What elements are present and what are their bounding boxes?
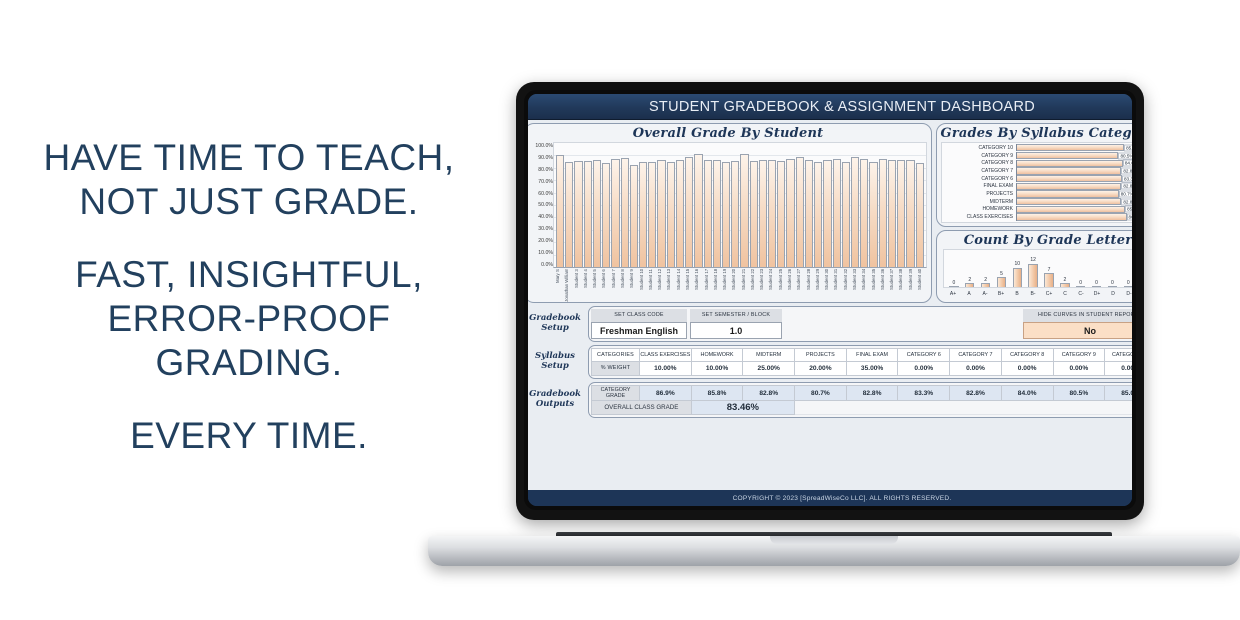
bar-value-label: 82.8% bbox=[1121, 167, 1132, 174]
headline-line: GRADING. bbox=[0, 341, 498, 385]
chart-bar bbox=[796, 157, 804, 267]
syllabus-setup-label-line2: Setup bbox=[541, 362, 569, 372]
gradebook-outputs-body: CATEGORY GRADE86.9%85.8%82.8%80.7%82.8%8… bbox=[588, 382, 1132, 418]
chart-bar bbox=[833, 159, 841, 267]
chart-bar bbox=[842, 162, 850, 267]
x-tick-label: B+ bbox=[994, 291, 1008, 300]
gradebook-outputs-table: CATEGORY GRADE86.9%85.8%82.8%80.7%82.8%8… bbox=[591, 385, 1132, 415]
x-tick-label: A- bbox=[978, 291, 992, 300]
y-tick-label: 70.0% bbox=[528, 179, 553, 185]
letter-count-column: 7 bbox=[1042, 252, 1056, 287]
category-grade-cell: 82.8% bbox=[846, 386, 898, 401]
x-tick-label: A bbox=[962, 291, 976, 300]
panel-title-overall: Overall Grade By Student bbox=[528, 124, 931, 142]
syllabus-bar-label: CATEGORY 9 bbox=[942, 153, 1016, 159]
chart-bar bbox=[916, 163, 924, 267]
weight-cell[interactable]: 10.00% bbox=[640, 361, 692, 375]
syllabus-bar-label: FINAL EXAM bbox=[942, 183, 1016, 189]
syllabus-bar-row: CATEGORY 884.0% bbox=[942, 160, 1132, 167]
letter-count-column: 2 bbox=[963, 252, 977, 287]
chart-bar bbox=[786, 159, 794, 267]
marketing-headline: HAVE TIME TO TEACH,NOT JUST GRADE.FAST, … bbox=[0, 136, 498, 458]
bar-value-label: 2 bbox=[1063, 278, 1066, 283]
chart-bar bbox=[621, 158, 629, 267]
table-row: CATEGORY GRADE86.9%85.8%82.8%80.7%82.8%8… bbox=[592, 386, 1133, 401]
bar-value-label: 80.7% bbox=[1119, 190, 1132, 197]
bar-value-label: 12 bbox=[1030, 258, 1036, 263]
headline-line: FAST, INSIGHTFUL, bbox=[0, 253, 498, 297]
headline-paragraph: HAVE TIME TO TEACH,NOT JUST GRADE. bbox=[0, 136, 498, 223]
weight-cell[interactable]: 0.00% bbox=[1053, 361, 1105, 375]
y-tick-label: 20.0% bbox=[528, 238, 553, 244]
x-tick-label: Student 21 bbox=[741, 269, 749, 302]
y-tick-label: 100.0% bbox=[528, 143, 553, 149]
letter-x-axis: A+AA-B+BB-C+CC-D+DD-F bbox=[943, 290, 1132, 300]
x-tick-label: Student 7 bbox=[611, 269, 619, 302]
syllabus-bar-row: CLASS EXERCISES86.9% bbox=[942, 213, 1132, 220]
x-tick-label: Student 15 bbox=[685, 269, 693, 302]
laptop-screen: STUDENT GRADEBOOK & ASSIGNMENT DASHBOARD… bbox=[528, 94, 1132, 506]
chart-bar bbox=[777, 161, 785, 267]
gradebook-setup-label-line2: Setup bbox=[541, 324, 569, 334]
x-tick-label: C- bbox=[1074, 291, 1088, 300]
x-tick-label: Student 36 bbox=[880, 269, 888, 302]
y-tick-label: 30.0% bbox=[528, 226, 553, 232]
x-tick-label: Student 18 bbox=[713, 269, 721, 302]
bar-value-label: 80.5% bbox=[1118, 152, 1132, 159]
syllabus-bar-track: 85.8% bbox=[1016, 206, 1132, 213]
x-tick-label: D+ bbox=[1090, 291, 1104, 300]
x-tick-label: Student 17 bbox=[704, 269, 712, 302]
chart-bar bbox=[657, 160, 665, 267]
category-grade-cell: 83.3% bbox=[898, 386, 950, 401]
column-header: PROJECTS bbox=[795, 349, 847, 362]
bar-value-label: 10 bbox=[1015, 262, 1021, 267]
chart-bar bbox=[1092, 286, 1101, 287]
syllabus-bar-track: 84.0% bbox=[1016, 160, 1132, 167]
column-header: CATEGORY 9 bbox=[1053, 349, 1105, 362]
y-tick-label: 40.0% bbox=[528, 214, 553, 220]
x-tick-label: Student 23 bbox=[759, 269, 767, 302]
syllabus-bar-chart: CATEGORY 1085.0%CATEGORY 980.5%CATEGORY … bbox=[941, 142, 1132, 223]
x-tick-label: C bbox=[1058, 291, 1072, 300]
chart-bar bbox=[648, 162, 656, 267]
headline-paragraph: EVERY TIME. bbox=[0, 414, 498, 458]
overall-plot-wrap: Mary SJonathan WilliamsStudent 3Student … bbox=[553, 142, 927, 302]
bar-value-label: 2 bbox=[984, 278, 987, 283]
chart-bar bbox=[888, 160, 896, 267]
x-tick-label: Student 27 bbox=[796, 269, 804, 302]
table-row: % WEIGHT10.00%10.00%25.00%20.00%35.00%0.… bbox=[592, 361, 1133, 375]
chart-bar: 82.8% bbox=[1017, 198, 1121, 205]
x-tick-label: Student 12 bbox=[657, 269, 665, 302]
syllabus-setup-label: Syllabus Setup bbox=[528, 345, 586, 379]
letter-count-column: 10 bbox=[1010, 252, 1024, 287]
y-tick-label: 10.0% bbox=[528, 250, 553, 256]
x-tick-label: D bbox=[1106, 291, 1120, 300]
chart-bar bbox=[639, 162, 647, 267]
table-row: OVERALL CLASS GRADE83.46% bbox=[592, 401, 1133, 415]
headline-line: HAVE TIME TO TEACH, bbox=[0, 136, 498, 180]
syllabus-bar-track: 82.8% bbox=[1016, 167, 1132, 174]
weight-cell[interactable]: 10.00% bbox=[691, 361, 743, 375]
laptop-bezel: STUDENT GRADEBOOK & ASSIGNMENT DASHBOARD… bbox=[524, 90, 1136, 510]
x-tick-label: Student 34 bbox=[861, 269, 869, 302]
x-tick-label: Student 35 bbox=[871, 269, 879, 302]
panel-title-syllabus: Grades By Syllabus Category bbox=[937, 124, 1132, 142]
chart-bar: 80.7% bbox=[1017, 190, 1119, 197]
setup-field: HIDE CURVES IN STUDENT REPORTSNo bbox=[1023, 309, 1132, 339]
row-header: CATEGORY GRADE bbox=[592, 386, 640, 401]
laptop-base bbox=[428, 536, 1240, 566]
chart-bar bbox=[879, 159, 887, 267]
syllabus-bar-label: CATEGORY 10 bbox=[942, 145, 1016, 151]
column-header: CATEGORY 6 bbox=[898, 349, 950, 362]
letter-count-column: 0 bbox=[947, 252, 961, 287]
weight-cell[interactable]: 0.00% bbox=[898, 361, 950, 375]
chart-bar bbox=[1108, 286, 1117, 287]
chart-bar bbox=[869, 162, 877, 267]
weight-cell[interactable]: 35.00% bbox=[846, 361, 898, 375]
category-grade-cell: 85.8% bbox=[691, 386, 743, 401]
x-tick-label: Student 5 bbox=[592, 269, 600, 302]
x-tick-label: Student 6 bbox=[601, 269, 609, 302]
gradebook-outputs-label-line2: Outputs bbox=[536, 400, 574, 410]
column-header: CATEGORY 8 bbox=[1001, 349, 1053, 362]
syllabus-bar-track: 80.7% bbox=[1016, 190, 1132, 197]
x-tick-label: Student 25 bbox=[778, 269, 786, 302]
overall-chart-area: 100.0%90.0%80.0%70.0%60.0%50.0%40.0%30.0… bbox=[528, 142, 931, 302]
syllabus-bar-row: MIDTERM82.8% bbox=[942, 198, 1132, 205]
syllabus-setup-section: Syllabus Setup CATEGORIESCLASS EXERCISES… bbox=[528, 345, 1132, 379]
chart-bar bbox=[965, 283, 974, 287]
gradebook-setup-label: Gradebook Setup bbox=[528, 306, 586, 342]
laptop-base-lip bbox=[770, 536, 898, 544]
chart-bar bbox=[602, 163, 610, 267]
chart-bar bbox=[556, 155, 564, 267]
category-grade-cell: 80.5% bbox=[1053, 386, 1105, 401]
panel-count-by-grade-letter: Count By Grade Letter 022510127200000 A+… bbox=[936, 230, 1132, 303]
overall-x-axis: Mary SJonathan WilliamsStudent 3Student … bbox=[553, 268, 927, 302]
x-tick-label: C+ bbox=[1042, 291, 1056, 300]
charts-row: Overall Grade By Student 100.0%90.0%80.0… bbox=[528, 123, 1132, 303]
overall-class-grade-value: 83.46% bbox=[691, 401, 794, 415]
chart-bar bbox=[1013, 268, 1022, 288]
weight-cell[interactable]: 20.00% bbox=[795, 361, 847, 375]
laptop-mockup: STUDENT GRADEBOOK & ASSIGNMENT DASHBOARD… bbox=[428, 82, 1240, 572]
x-tick-label: Student 37 bbox=[889, 269, 897, 302]
overall-class-grade-label: OVERALL CLASS GRADE bbox=[592, 401, 692, 415]
chart-bar bbox=[685, 157, 693, 267]
column-header: CATEGORY 10 bbox=[1105, 349, 1132, 362]
row-header: % WEIGHT bbox=[592, 361, 640, 375]
chart-bar bbox=[713, 160, 721, 267]
weight-cell[interactable]: 0.00% bbox=[1105, 361, 1132, 375]
x-tick-label: Student 30 bbox=[824, 269, 832, 302]
weight-cell[interactable]: 25.00% bbox=[743, 361, 795, 375]
chart-bar bbox=[574, 161, 582, 267]
column-header: HOMEWORK bbox=[691, 349, 743, 362]
chart-bar bbox=[593, 160, 601, 267]
chart-bar: 83.3% bbox=[1017, 175, 1122, 182]
chart-bar bbox=[814, 162, 822, 267]
setup-field-header: HIDE CURVES IN STUDENT REPORTS bbox=[1023, 309, 1132, 322]
chart-bar bbox=[565, 162, 573, 267]
headline-line: NOT JUST GRADE. bbox=[0, 180, 498, 224]
headline-line: EVERY TIME. bbox=[0, 414, 498, 458]
overall-y-axis: 100.0%90.0%80.0%70.0%60.0%50.0%40.0%30.0… bbox=[528, 142, 553, 302]
empty-cell bbox=[795, 401, 1132, 415]
category-grade-cell: 84.0% bbox=[1001, 386, 1053, 401]
x-tick-label: Student 4 bbox=[583, 269, 591, 302]
chart-bar: 82.8% bbox=[1017, 167, 1121, 174]
y-tick-label: 90.0% bbox=[528, 155, 553, 161]
x-tick-label: Student 40 bbox=[917, 269, 925, 302]
gradebook-setup-grid: SET CLASS CODEFreshman EnglishSET SEMEST… bbox=[591, 309, 1132, 339]
y-tick-label: 0.0% bbox=[528, 262, 553, 268]
setup-field-input[interactable]: No bbox=[1023, 322, 1132, 339]
x-tick-label: Student 11 bbox=[648, 269, 656, 302]
letter-count-column: 0 bbox=[1121, 252, 1132, 287]
syllabus-bar-row: CATEGORY 980.5% bbox=[942, 152, 1132, 159]
weight-cell[interactable]: 0.00% bbox=[950, 361, 1002, 375]
row-header: CATEGORIES bbox=[592, 349, 640, 362]
chart-bar: 85.8% bbox=[1017, 206, 1125, 213]
table-row: CATEGORIESCLASS EXERCISESHOMEWORKMIDTERM… bbox=[592, 349, 1133, 362]
x-tick-label: Student 3 bbox=[574, 269, 582, 302]
column-header: CLASS EXERCISES bbox=[640, 349, 692, 362]
category-grade-cell: 85.0% bbox=[1105, 386, 1132, 401]
syllabus-bar-track: 82.8% bbox=[1016, 183, 1132, 190]
y-tick-label: 80.0% bbox=[528, 167, 553, 173]
chart-bar bbox=[704, 160, 712, 267]
chart-bar bbox=[676, 160, 684, 267]
letter-count-column: 2 bbox=[1058, 252, 1072, 287]
syllabus-bar-track: 83.3% bbox=[1016, 175, 1132, 182]
x-tick-label: Student 10 bbox=[639, 269, 647, 302]
x-tick-label: Student 33 bbox=[852, 269, 860, 302]
bar-value-label: 7 bbox=[1048, 268, 1051, 273]
x-tick-label: Mary S bbox=[555, 269, 563, 302]
setup-field-input[interactable]: 1.0 bbox=[690, 322, 782, 339]
chart-bar bbox=[759, 160, 767, 267]
chart-bar: 80.5% bbox=[1017, 152, 1118, 159]
chart-bar bbox=[1124, 286, 1133, 287]
right-charts-column: Grades By Syllabus Category CATEGORY 108… bbox=[936, 123, 1132, 303]
setup-field: SET SEMESTER / BLOCK1.0 bbox=[690, 309, 782, 339]
syllabus-bar-row: PROJECTS80.7% bbox=[942, 190, 1132, 197]
category-grade-cell: 80.7% bbox=[795, 386, 847, 401]
chart-bar bbox=[981, 283, 990, 287]
syllabus-bar-track: 82.8% bbox=[1016, 198, 1132, 205]
gradebook-outputs-label: Gradebook Outputs bbox=[528, 382, 586, 418]
letter-count-column: 5 bbox=[995, 252, 1009, 287]
setup-field-header: SET SEMESTER / BLOCK bbox=[690, 309, 782, 322]
syllabus-bar-track: 85.0% bbox=[1016, 144, 1132, 151]
bar-value-label: 82.8% bbox=[1121, 183, 1132, 190]
chart-bar bbox=[1044, 273, 1053, 287]
bar-value-label: 85.8% bbox=[1125, 206, 1132, 213]
x-tick-label: Student 22 bbox=[750, 269, 758, 302]
letter-count-chart: 022510127200000 bbox=[943, 249, 1132, 288]
setup-field-header: SET CLASS CODE bbox=[591, 309, 687, 322]
bar-value-label: 0 bbox=[1111, 281, 1114, 286]
chart-bar bbox=[731, 161, 739, 267]
x-tick-label: B- bbox=[1026, 291, 1040, 300]
x-tick-label: Student 28 bbox=[806, 269, 814, 302]
laptop-lid: STUDENT GRADEBOOK & ASSIGNMENT DASHBOARD… bbox=[516, 82, 1144, 520]
setup-spacer bbox=[785, 309, 1020, 339]
column-header: FINAL EXAM bbox=[846, 349, 898, 362]
bar-value-label: 0 bbox=[1079, 281, 1082, 286]
letter-count-column: 0 bbox=[1105, 252, 1119, 287]
x-tick-label: Jonathan Williams bbox=[564, 269, 572, 302]
x-tick-label: Student 32 bbox=[843, 269, 851, 302]
dashboard-app: STUDENT GRADEBOOK & ASSIGNMENT DASHBOARD… bbox=[528, 94, 1132, 506]
category-grade-cell: 82.8% bbox=[743, 386, 795, 401]
chart-bar bbox=[584, 161, 592, 267]
headline-line: ERROR-PROOF bbox=[0, 297, 498, 341]
chart-bar bbox=[611, 159, 619, 268]
syllabus-setup-body: CATEGORIESCLASS EXERCISESHOMEWORKMIDTERM… bbox=[588, 345, 1132, 379]
x-tick-label: Student 29 bbox=[815, 269, 823, 302]
dashboard-title: STUDENT GRADEBOOK & ASSIGNMENT DASHBOARD bbox=[528, 94, 1132, 120]
chart-bar bbox=[897, 160, 905, 267]
chart-bar bbox=[750, 161, 758, 267]
chart-bar: 86.9% bbox=[1017, 213, 1127, 220]
x-tick-label: Student 16 bbox=[694, 269, 702, 302]
letter-count-column: 0 bbox=[1090, 252, 1104, 287]
x-tick-label: Student 9 bbox=[629, 269, 637, 302]
syllabus-bar-label: CATEGORY 7 bbox=[942, 168, 1016, 174]
x-tick-label: Student 19 bbox=[722, 269, 730, 302]
chart-bar bbox=[1076, 286, 1085, 287]
headline-paragraph: FAST, INSIGHTFUL,ERROR-PROOFGRADING. bbox=[0, 253, 498, 384]
x-tick-label: Student 39 bbox=[908, 269, 916, 302]
syllabus-bar-label: CLASS EXERCISES bbox=[942, 214, 1016, 220]
panel-overall-grade-by-student: Overall Grade By Student 100.0%90.0%80.0… bbox=[528, 123, 932, 303]
chart-bar bbox=[694, 154, 702, 267]
bar-value-label: 0 bbox=[1095, 281, 1098, 286]
dashboard-footer: COPYRIGHT © 2023 [SpreadWiseCo LLC]. ALL… bbox=[528, 490, 1132, 506]
bar-value-label: 84.0% bbox=[1123, 160, 1132, 167]
chart-bar bbox=[823, 160, 831, 267]
syllabus-bar-label: PROJECTS bbox=[942, 191, 1016, 197]
chart-bar bbox=[805, 160, 813, 267]
setup-field-input[interactable]: Freshman English bbox=[591, 322, 687, 339]
syllabus-bar-track: 86.9% bbox=[1016, 213, 1132, 220]
x-tick-label: Student 38 bbox=[898, 269, 906, 302]
syllabus-bar-label: HOMEWORK bbox=[942, 206, 1016, 212]
overall-plot bbox=[553, 142, 927, 268]
bar-value-label: 0 bbox=[953, 281, 956, 286]
x-tick-label: A+ bbox=[946, 291, 960, 300]
y-tick-label: 60.0% bbox=[528, 191, 553, 197]
chart-bar: 85.0% bbox=[1017, 144, 1124, 151]
chart-bar bbox=[949, 286, 958, 287]
bar-value-label: 85.0% bbox=[1124, 144, 1132, 151]
syllabus-bar-row: FINAL EXAM82.8% bbox=[942, 183, 1132, 190]
chart-bar: 82.8% bbox=[1017, 183, 1121, 190]
column-header: CATEGORY 7 bbox=[950, 349, 1002, 362]
gradebook-setup-section: Gradebook Setup SET CLASS CODEFreshman E… bbox=[528, 306, 1132, 342]
x-tick-label: Student 31 bbox=[833, 269, 841, 302]
syllabus-bar-label: CATEGORY 6 bbox=[942, 176, 1016, 182]
y-tick-label: 50.0% bbox=[528, 202, 553, 208]
weight-cell[interactable]: 0.00% bbox=[1001, 361, 1053, 375]
panel-grades-by-syllabus-category: Grades By Syllabus Category CATEGORY 108… bbox=[936, 123, 1132, 227]
gradebook-outputs-section: Gradebook Outputs CATEGORY GRADE86.9%85.… bbox=[528, 382, 1132, 418]
chart-bar bbox=[997, 277, 1006, 287]
x-tick-label: Student 14 bbox=[676, 269, 684, 302]
x-tick-label: Student 13 bbox=[666, 269, 674, 302]
bar-value-label: 0 bbox=[1127, 281, 1130, 286]
syllabus-bar-label: CATEGORY 8 bbox=[942, 160, 1016, 166]
x-tick-label: Student 26 bbox=[787, 269, 795, 302]
letter-count-column: 12 bbox=[1026, 252, 1040, 287]
letter-count-column: 0 bbox=[1074, 252, 1088, 287]
syllabus-bar-track: 80.5% bbox=[1016, 152, 1132, 159]
setup-field: SET CLASS CODEFreshman English bbox=[591, 309, 687, 339]
syllabus-weights-table: CATEGORIESCLASS EXERCISESHOMEWORKMIDTERM… bbox=[591, 348, 1132, 376]
chart-bar bbox=[630, 165, 638, 267]
dashboard-body: Overall Grade By Student 100.0%90.0%80.0… bbox=[528, 120, 1132, 490]
chart-bar bbox=[1060, 283, 1069, 287]
syllabus-bar-row: CATEGORY 1085.0% bbox=[942, 144, 1132, 151]
x-tick-label: Student 20 bbox=[731, 269, 739, 302]
category-grade-cell: 86.9% bbox=[640, 386, 692, 401]
syllabus-bar-label: MIDTERM bbox=[942, 199, 1016, 205]
column-header: MIDTERM bbox=[743, 349, 795, 362]
syllabus-bar-row: HOMEWORK85.8% bbox=[942, 206, 1132, 213]
bar-value-label: 82.8% bbox=[1121, 198, 1132, 205]
gradebook-setup-body: SET CLASS CODEFreshman EnglishSET SEMEST… bbox=[588, 306, 1132, 342]
chart-bar bbox=[667, 162, 675, 267]
x-tick-label: D- bbox=[1122, 291, 1132, 300]
syllabus-bar-row: CATEGORY 683.3% bbox=[942, 175, 1132, 182]
chart-bar bbox=[851, 157, 859, 267]
syllabus-bar-row: CATEGORY 782.8% bbox=[942, 167, 1132, 174]
chart-bar bbox=[768, 160, 776, 267]
chart-bar: 84.0% bbox=[1017, 160, 1123, 167]
bar-value-label: 86.9% bbox=[1127, 214, 1132, 221]
chart-bar bbox=[1028, 264, 1037, 287]
chart-bar bbox=[860, 159, 868, 267]
letter-count-column: 2 bbox=[979, 252, 993, 287]
bar-value-label: 83.3% bbox=[1122, 175, 1132, 182]
category-grade-cell: 82.8% bbox=[950, 386, 1002, 401]
x-tick-label: B bbox=[1010, 291, 1024, 300]
x-tick-label: Student 24 bbox=[768, 269, 776, 302]
bar-value-label: 2 bbox=[968, 278, 971, 283]
x-tick-label: Student 8 bbox=[620, 269, 628, 302]
chart-bar bbox=[722, 162, 730, 267]
chart-bar bbox=[906, 160, 914, 267]
chart-bar bbox=[740, 154, 748, 267]
bar-value-label: 5 bbox=[1000, 272, 1003, 277]
panel-title-letter: Count By Grade Letter bbox=[937, 231, 1132, 249]
